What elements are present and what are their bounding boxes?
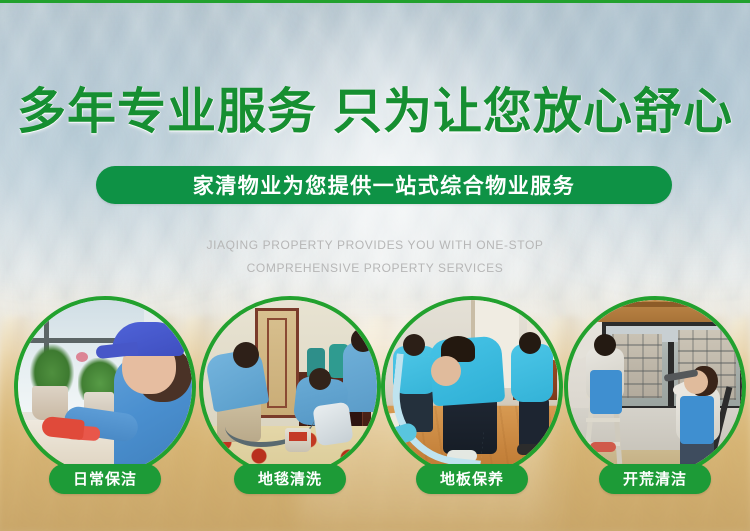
card-label-post-construction-cleaning: 开荒清洁: [599, 464, 711, 494]
scene-post-construction-cleaning: [568, 300, 742, 474]
card-photo-ring: [14, 296, 196, 478]
ceiling-beam: [604, 302, 724, 307]
photo-post-construction-cleaning: [568, 300, 742, 474]
card-label-daily-cleaning: 日常保洁: [49, 464, 161, 494]
top-green-rule: [0, 0, 750, 3]
service-card-daily-cleaning[interactable]: 日常保洁: [14, 296, 196, 478]
photo-floor-maintenance: [385, 300, 559, 474]
scene-daily-cleaning: [18, 300, 192, 474]
worker-3-legs: [519, 398, 549, 448]
worker-2-apron: [680, 396, 714, 444]
worker-3-shoe: [517, 444, 545, 455]
worker-3-torso: [343, 342, 377, 412]
service-card-post-construction-cleaning[interactable]: 开荒清洁: [564, 296, 746, 478]
scene-carpet-cleaning: [203, 300, 377, 474]
worker-1-head: [594, 334, 616, 356]
worker-1-apron: [590, 370, 622, 414]
photo-carpet-cleaning: [203, 300, 377, 474]
service-card-list: 日常保洁: [0, 0, 750, 531]
door-inner-frame: [267, 318, 287, 408]
scene-floor-maintenance: [385, 300, 559, 474]
worker-3-head: [351, 328, 375, 352]
bucket-band: [289, 432, 307, 441]
worker-2-head: [309, 368, 331, 390]
plant-foliage-left: [30, 344, 74, 392]
carpet-extractor-machine: [312, 402, 353, 447]
card-label-floor-maintenance: 地板保养: [416, 464, 528, 494]
plant-pot-left: [32, 386, 68, 420]
worker-1-shoe: [590, 442, 616, 452]
service-card-carpet-cleaning[interactable]: 地毯清洗: [199, 296, 381, 478]
worker-3-head: [519, 332, 541, 354]
photo-daily-cleaning: [18, 300, 192, 474]
card-photo-ring: [381, 296, 563, 478]
card-photo-ring: [199, 296, 381, 478]
worker-1-head: [403, 334, 425, 356]
ladder-step-2: [586, 418, 620, 422]
service-card-floor-maintenance[interactable]: 地板保养: [381, 296, 563, 478]
promo-banner: 多年专业服务只为让您放心舒心 家清物业为您提供一站式综合物业服务 JIAQING…: [0, 0, 750, 531]
card-label-carpet-cleaning: 地毯清洗: [234, 464, 346, 494]
worker-1-head: [233, 342, 259, 368]
card-photo-ring: [564, 296, 746, 478]
